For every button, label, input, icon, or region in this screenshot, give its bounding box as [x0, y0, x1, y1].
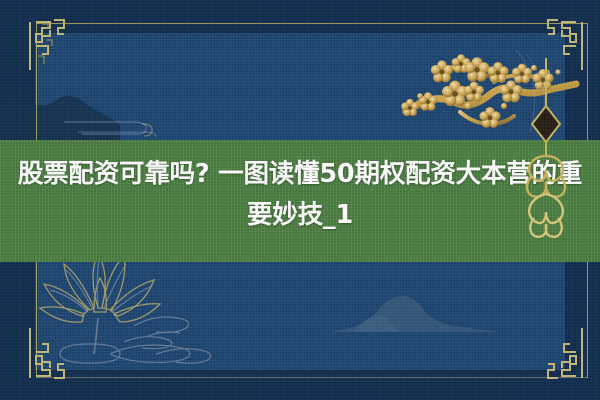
- meander-corner-top-right-icon: [538, 16, 584, 74]
- title-band: 股票配资可靠吗? 一图读懂50期权配资大本营的重 要妙技_1: [0, 140, 600, 262]
- meander-corner-bottom-right-icon: [538, 324, 584, 382]
- banner-image: 股票配资可靠吗? 一图读懂50期权配资大本营的重 要妙技_1: [0, 0, 600, 400]
- page-title: 股票配资可靠吗? 一图读懂50期权配资大本营的重 要妙技_1: [0, 140, 600, 236]
- frame-rule-top: [36, 23, 588, 24]
- meander-corner-bottom-left-icon: [28, 324, 74, 382]
- meander-corner-top-left-icon: [28, 16, 74, 74]
- frame-rule-bottom: [36, 377, 588, 378]
